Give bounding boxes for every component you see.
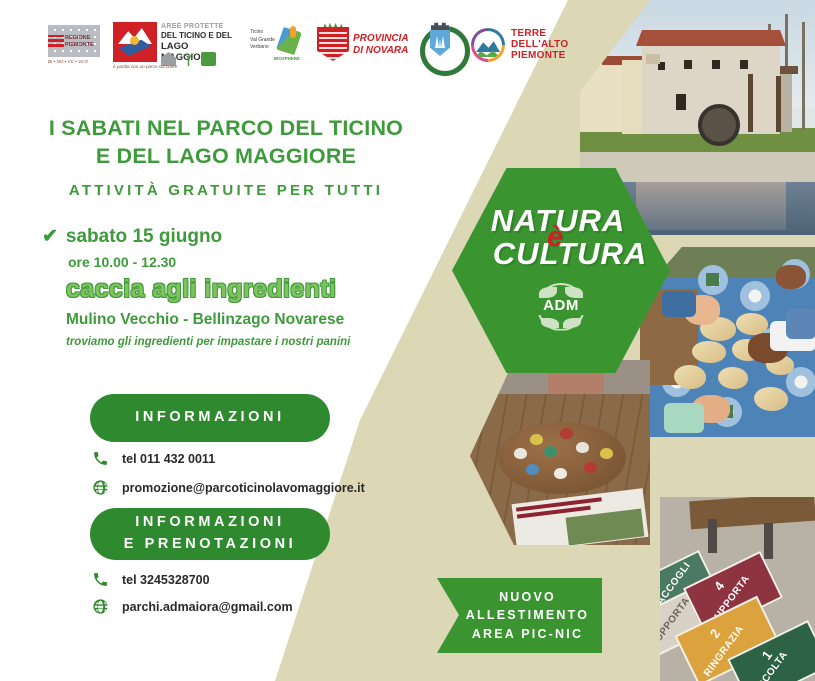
provincia-line-1: PROVINCIA [353,33,409,44]
poster-root: ACCOGLI SUPPORTA 4 SUPPORTA 2 RINGRAZIA … [0,0,815,681]
picnic-line-1: NUOVO [499,590,556,604]
aree-sub: è partita con un parco sul cuore [113,64,177,69]
ticino-badge: BIOSPHERE [274,56,300,61]
regione-sub: BI • NO • VC • VCO [48,59,88,64]
lake-icon [201,52,216,66]
title-line-1: I SABATI NEL PARCO DEL TICINO [49,116,403,140]
logo-terre-alto-piemonte: TERRE DELL'ALTO PIEMONTE [471,24,577,66]
check-icon: ✔ [42,227,58,246]
logo-provincia-novara: PROVINCIA DI NOVARA [317,21,409,69]
globe-icon [92,479,109,496]
ticino-line-2: Val Grande [250,37,275,45]
booking-button-line-1: INFORMAZIONI [135,512,285,534]
regione-line-1: REGIONE [65,35,90,41]
aree-line-2: DEL TICINO E DEL [161,31,232,40]
event-time: ore 10.00 - 12.30 [68,254,442,270]
sponsor-logo-bar: REGIONE PIEMONTE BI • NO • VC • VCO AREE… [48,14,468,76]
natura-e-cultura-words: NATURA è CULTURA [452,205,670,269]
booking-email-row[interactable]: parchi.admaiora@gmail.com [92,598,293,615]
phone-icon [92,450,109,467]
terre-line-3: PIEMONTE [511,50,566,61]
event-details: ✔ sabato 15 giugno ore 10.00 - 12.30 cac… [42,226,442,348]
regione-line-2: PIEMONTE [65,42,94,48]
logo-aree-protette: AREE PROTETTE DEL TICINO E DEL LAGO MAGG… [113,20,241,70]
event-date: sabato 15 giugno [66,226,222,248]
booking-button-line-2: E PRENOTAZIONI [124,534,297,556]
picnic-line-2: ALLESTIMENTO [466,608,589,622]
phone-icon [92,571,109,588]
terre-line-2: DELL'ALTO [511,39,568,50]
picnic-line-3: AREA PIC-NIC [472,627,583,641]
terre-line-1: TERRE [511,28,546,39]
booking-phone-text: tel 3245328700 [122,573,210,587]
logo-regione-piemonte: REGIONE PIEMONTE BI • NO • VC • VCO [48,21,104,69]
event-note: troviamo gli ingredienti per impastare i… [66,336,442,348]
informazioni-prenotazioni-button[interactable]: INFORMAZIONI E PRENOTAZIONI [90,508,330,560]
info-phone-text: tel 011 432 0011 [122,452,215,466]
booking-phone-row[interactable]: tel 3245328700 [92,571,210,588]
page-subtitle: ATTIVITÀ GRATUITE PER TUTTI [0,182,452,199]
globe-icon [92,598,109,615]
page-title: I SABATI NEL PARCO DEL TICINO E DEL LAGO… [0,115,452,170]
ticino-line-1: Ticino [250,29,275,37]
poster-content: REGIONE PIEMONTE BI • NO • VC • VCO AREE… [0,0,470,681]
informazioni-button[interactable]: INFORMAZIONI [90,394,330,442]
ticino-line-3: Verbano [250,44,275,52]
info-phone-row[interactable]: tel 011 432 0011 [92,450,215,467]
logo-comune [418,20,462,70]
info-email-row[interactable]: promozione@parcoticinolavomaggiore.it [92,479,365,496]
hex-line-cultura: CULTURA [470,238,670,269]
booking-email-text: parchi.admaiora@gmail.com [122,600,293,614]
hex-accent-e: è [547,221,563,254]
logo-ticino-val-grande: Ticino Val Grande Verbano BIOSPHERE [250,23,308,67]
event-location: Mulino Vecchio - Bellinzago Novarese [66,311,442,329]
info-email-text: promozione@parcoticinolavomaggiore.it [122,481,365,495]
photo-hopscotch: ACCOGLI SUPPORTA 4 SUPPORTA 2 RINGRAZIA … [660,497,815,681]
adm-label: ADM [537,297,585,314]
event-activity-title: caccia agli ingredienti [66,275,442,304]
adm-logo-icon: ADM [537,283,585,331]
provincia-line-2: DI NOVARA [353,45,408,56]
title-line-2: E DEL LAGO MAGGIORE [96,144,356,168]
aree-line-1: AREE PROTETTE [161,23,224,30]
